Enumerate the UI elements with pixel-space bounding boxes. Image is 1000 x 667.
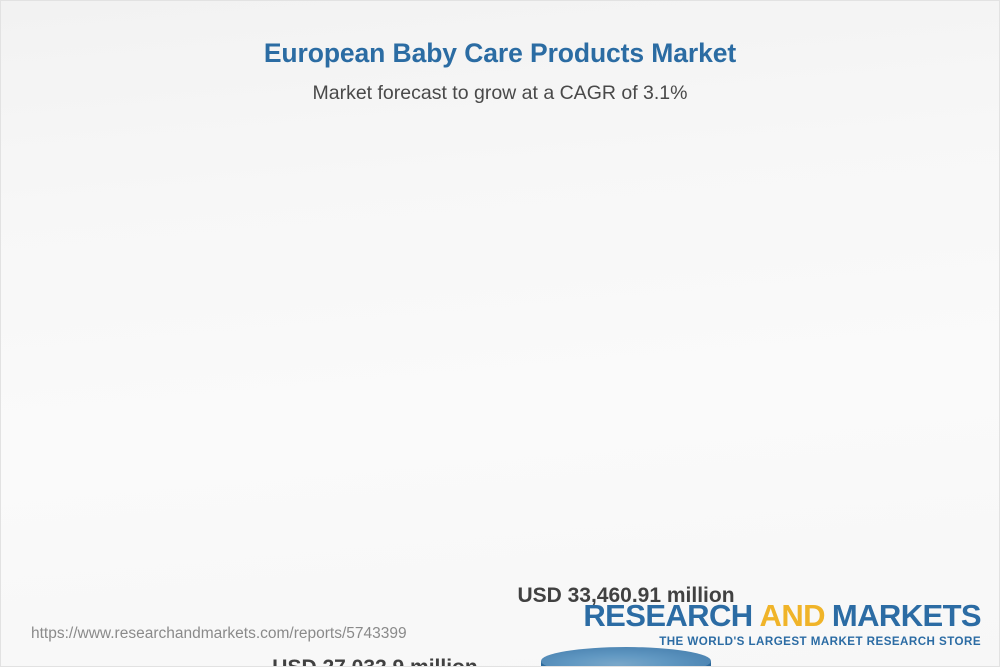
source-url-link[interactable]: https://www.researchandmarkets.com/repor… <box>31 625 407 643</box>
chart-title: European Baby Care Products Market <box>1 39 999 68</box>
bar-chart-plot-area: USD 27,032.9 million 2021 USD 33,460.91 … <box>1 131 1000 571</box>
brand-word-and: AND <box>760 598 825 633</box>
footer: https://www.researchandmarkets.com/repor… <box>1 571 999 666</box>
brand-wordmark: RESEARCHANDMARKETS <box>583 600 981 631</box>
brand-tagline: THE WORLD'S LARGEST MARKET RESEARCH STOR… <box>583 636 981 648</box>
brand-word-research: RESEARCH <box>583 598 752 633</box>
chart-subtitle: Market forecast to grow at a CAGR of 3.1… <box>1 83 999 104</box>
brand-logo[interactable]: RESEARCHANDMARKETS THE WORLD'S LARGEST M… <box>583 600 981 648</box>
infographic-card: European Baby Care Products Market Marke… <box>0 0 1000 667</box>
chart-header: European Baby Care Products Market Marke… <box>1 1 999 105</box>
brand-word-markets: MARKETS <box>832 598 981 633</box>
